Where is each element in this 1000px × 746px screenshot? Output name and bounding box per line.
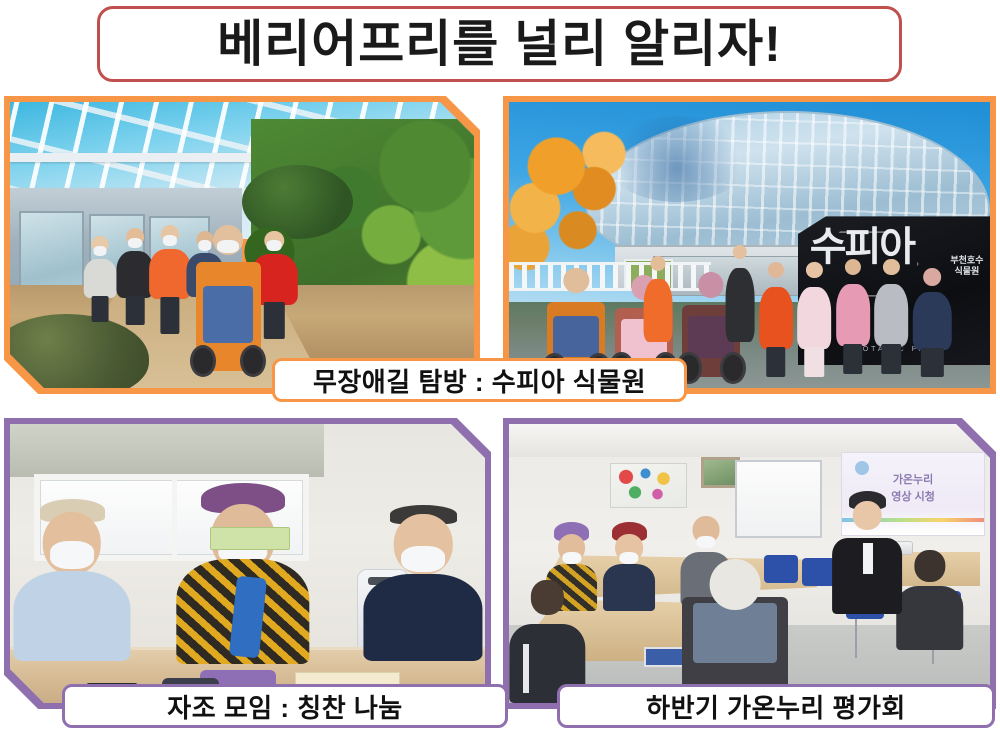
photo-self-help-meeting [4,418,491,709]
chair-leg [855,619,857,658]
body [13,571,130,662]
caption-2: 자조 모임 : 칭찬 나눔 [62,684,508,728]
body [644,279,673,342]
group-member [725,245,754,342]
legs [766,347,786,377]
photo-botanical-garden-interior [4,96,480,394]
face-mask [128,238,142,249]
slide-canvas: 베리어프리를 널리 알리자! [0,0,1000,746]
group-member [836,259,870,373]
legs [843,344,863,374]
caption-3: 하반기 가온누리 평가회 [557,684,995,728]
projection-line1: 가온누리 [842,472,984,489]
group-member [644,256,673,342]
head [651,256,666,271]
caption-1-text: 무장애길 탐방 : 수피아 식물원 [313,362,646,399]
participant-center [181,483,305,664]
visitor-legs [92,296,109,322]
participant-right [371,505,476,661]
face-mask [94,246,107,256]
face-mask [401,546,445,573]
window-mullion [172,474,177,560]
seated-participant [605,522,653,611]
body [364,574,483,661]
group-member [875,259,909,373]
photo-evaluation-meeting: 가온누리 영상 시청 [503,418,996,709]
photo-frame-orange [4,96,480,394]
shirt [863,543,873,575]
head [768,262,784,278]
body [896,586,964,650]
seated-participant-right [899,550,962,650]
photo-supia-group: 수피아 부천호수 식물원 BOTANIC PARK [503,96,996,394]
head [845,259,861,275]
face-mask [620,552,639,564]
legs [921,348,943,376]
body [725,268,754,342]
head [853,501,882,531]
face-mask [267,240,282,251]
wheelchair-backrest [693,603,778,662]
face-mask [697,536,716,548]
face-mask [50,541,94,569]
slide-title-box: 베리어프리를 널리 알리자! [97,6,902,82]
face-mask [198,240,211,250]
head-back [531,580,563,615]
head [923,268,941,286]
wheelchair-user-head [710,559,761,610]
wheelchair-wheel [720,352,745,383]
white-fence [509,262,711,291]
photo-image-botanical-garden-interior [10,102,474,388]
visitor-legs [126,296,145,325]
visitor-legs [264,302,284,339]
body [836,284,870,346]
visitor-legs [160,297,179,334]
body [603,564,655,610]
photo-frame-purple: 가온누리 영상 시청 [503,418,996,709]
legs [805,347,825,377]
whiteboard [735,460,822,538]
wheelchair-wheel [240,345,266,377]
face-mask [217,240,239,253]
wheelchair-blanket [553,316,599,358]
body [759,287,793,349]
photo-image-supia-group: 수피아 부천호수 식물원 BOTANIC PARK [509,102,990,388]
participant-left [20,499,125,661]
body [875,284,909,346]
head [883,259,899,275]
wheelchair-user [196,262,261,371]
chair [764,555,798,583]
presenter [841,491,894,614]
photo-frame-orange: 수피아 부천호수 식물원 BOTANIC PARK [503,96,996,394]
photo-image-self-help-meeting [10,424,485,703]
supia-sign-sub-text: 부천호수 식물원 [950,255,983,278]
legs [882,344,902,374]
body [798,287,832,349]
visitor-body [84,259,116,298]
window-blind [10,424,324,477]
group-member [913,268,951,377]
photo-frame-purple [4,418,491,709]
chair [802,558,836,586]
head [806,262,822,278]
supia-sign-sub-line1: 부천호수 [950,255,983,266]
face-mask [163,235,177,246]
visitor-body [149,249,191,299]
head [914,550,945,583]
jacket-stripe [523,644,529,693]
visitor-figure [84,236,116,322]
head [733,245,747,259]
caption-2-text: 자조 모임 : 칭찬 나눔 [167,688,402,725]
caption-1: 무장애길 탐방 : 수피아 식물원 [272,358,687,402]
caption-3-text: 하반기 가온누리 평가회 [646,688,906,725]
visitor-figure [149,225,191,334]
page-title: 베리어프리를 널리 알리자! [217,19,781,69]
face-mask [562,552,581,564]
group-member [759,262,793,376]
photo-image-evaluation-meeting: 가온누리 영상 시청 [509,424,990,703]
group-member [798,262,832,376]
wheelchair-blanket [203,286,252,343]
wall-painting [610,463,687,508]
supia-sign-sub-line2: 식물원 [950,266,983,277]
praise-card [210,527,291,549]
body [913,292,951,351]
